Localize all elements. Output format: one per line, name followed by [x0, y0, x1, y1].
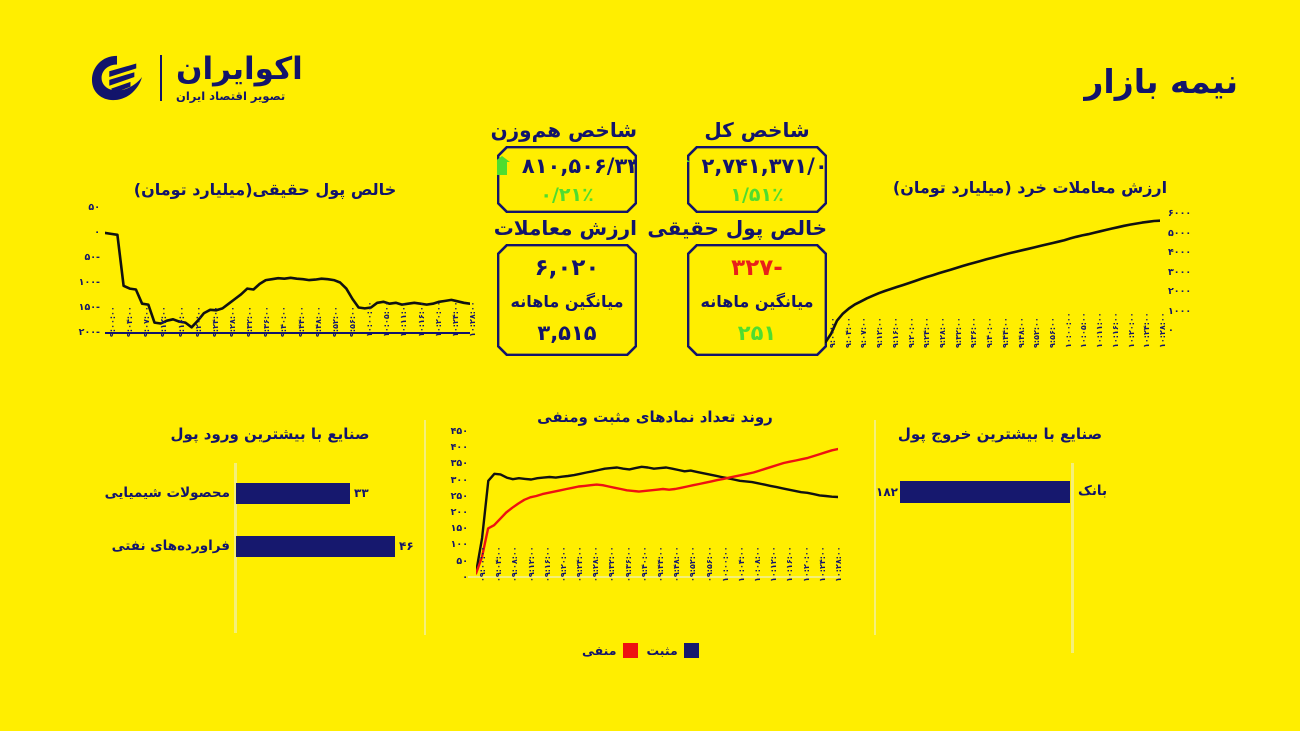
legend-swatch-negative: [623, 643, 638, 658]
bar-chemicals[interactable]: [236, 483, 350, 504]
x-tick-label: ۹:۲۴:۰۰: [922, 317, 931, 348]
y-tick-label: ۱۰۰۰: [1168, 306, 1208, 317]
money-inflow-industries-chart: صنایع با بیشترین ورود پول محصولات شیمیای…: [120, 425, 420, 635]
brand-tagline: تصویر اقتصاد ایران: [176, 89, 285, 103]
money-outflow-industries-chart: صنایع با بیشترین خروج پول بانک ۱۸۲: [875, 425, 1125, 635]
x-tick-label: ۱۰:۱۱:۰۰: [1095, 312, 1104, 348]
y-tick-label: ۳۰۰: [428, 475, 468, 486]
y-tick-label: ۰: [428, 572, 468, 583]
x-tick-label: ۰۹:۴۴:۰۰: [656, 546, 665, 582]
x-tick-label: ۰۹:۰۰:۰۰: [478, 546, 487, 582]
y-tick-label: ۰: [60, 227, 100, 238]
x-tick-label: ۱۰:۰۴:۰۰: [737, 546, 746, 582]
kpi-total-index: شاخص کل ۲,۷۴۱,۳۷۱/۰۶ ۱/۵۱٪: [687, 118, 827, 213]
x-tick-label: ۱۰:۲۴:۰۰: [1142, 312, 1151, 348]
x-tick-label: ۱۰:۲۴:۰۰: [818, 546, 827, 582]
y-tick-label: ۳۰۰۰: [1168, 267, 1208, 278]
section-divider-left: [424, 420, 426, 635]
x-tick-label: ۰۹:۲۴:۰۰: [575, 546, 584, 582]
kpi-value-row: ۲,۷۴۱,۳۷۱/۰۶: [674, 154, 841, 178]
legend-item-negative: منفی: [582, 643, 638, 658]
legend-label-negative: منفی: [582, 643, 617, 658]
y-tick-label: ۶۰۰۰: [1168, 208, 1208, 219]
x-tick-label: ۱۰:۲۸:۰۰: [1158, 312, 1167, 348]
chart-title: صنایع با بیشترین ورود پول: [120, 425, 420, 443]
x-tick-label: ۱۰:۰۰:۰۰: [365, 301, 374, 337]
bar-bank[interactable]: [900, 481, 1070, 503]
x-tick-label: ۹:۳۶:۰۰: [969, 317, 978, 348]
y-tick-label: ۱۵۰: [428, 523, 468, 534]
page-title: نیمه بازار: [1084, 62, 1238, 101]
x-tick-label: ۰۹:۳۲:۰۰: [607, 546, 616, 582]
legend-item-positive: مثبت: [647, 643, 699, 658]
x-tick-label: ۹:۴۸:۰۰: [314, 306, 323, 337]
x-tick-label: ۹:۰۰:۰۰: [108, 306, 117, 337]
x-tick-label: ۹:۱۶:۰۰: [891, 317, 900, 348]
x-tick-label: ۹:۲۴:۰۰: [211, 306, 220, 337]
section-divider-right: [874, 420, 876, 635]
retail-trade-value-chart: ارزش معاملات خرد (میلیارد تومان) ۶۰۰۰۵۰۰…: [820, 178, 1240, 378]
arrow-up-green-icon: [494, 156, 512, 176]
kpi-value-row: ۸۱۰,۵۰۶/۳۳: [494, 154, 640, 178]
x-tick-label: ۹:۳۲:۰۰: [245, 306, 254, 337]
y-tick-label: ۴۰۰: [428, 442, 468, 453]
brand-logo-text: اکوایران تصویر اقتصاد ایران: [176, 53, 303, 104]
x-tick-label: ۹:۵۶:۰۰: [1048, 317, 1057, 348]
x-tick-label: ۹:۰۴:۰۰: [125, 306, 134, 337]
x-tick-label: ۱۰:۱۱:۰۰: [399, 301, 408, 337]
bar-category-label: بانک: [1078, 483, 1107, 499]
x-tick-label: ۰۹:۴۸:۰۰: [672, 546, 681, 582]
y-tick-label: -۵۰: [60, 252, 100, 263]
chart-title: ارزش معاملات خرد (میلیارد تومان): [820, 178, 1240, 197]
bar-axis-line: [1071, 463, 1074, 653]
x-tick-label: ۱۰:۰۸:۰۰: [753, 546, 762, 582]
x-tick-label: ۱۰:۱۶:۰۰: [1111, 312, 1120, 348]
x-tick-label: ۹:۱۲:۰۰: [875, 317, 884, 348]
x-tick-label: ۰۹:۵۲:۰۰: [688, 546, 697, 582]
x-tick-label: ۹:۴۸:۰۰: [1017, 317, 1026, 348]
kpi-card: -۳۲۷ میانگین ماهانه ۲۵۱: [687, 244, 827, 356]
x-tick-label: ۹:۰۷:۰۰: [142, 306, 151, 337]
bar-petroleum[interactable]: [236, 536, 395, 557]
chart-title: صنایع با بیشترین خروج پول: [875, 425, 1125, 443]
arrow-up-green-icon: [674, 156, 692, 176]
bar-value-label: ۱۸۲: [876, 485, 898, 499]
eco-iran-swoosh-logo-icon: [88, 52, 146, 104]
kpi-sub-value: ۳,۵۱۵: [537, 321, 596, 345]
kpi-hamvazn-index: شاخص هم‌وزن ۸۱۰,۵۰۶/۳۳ ۰/۲۱٪: [497, 118, 637, 213]
x-tick-label: ۰۹:۵۶:۰۰: [705, 546, 714, 582]
x-tick-label: ۱۰:۰۰:۰۰: [1064, 312, 1073, 348]
kpi-change: ۱/۵۱٪: [730, 184, 783, 206]
x-tick-label: ۰۹:۱۲:۰۰: [527, 546, 536, 582]
bar-category-label: محصولات شیمیایی: [105, 485, 230, 501]
x-tick-label: ۱۰:۱۶:۰۰: [417, 301, 426, 337]
x-tick-label: ۹:۰۷:۰۰: [859, 317, 868, 348]
x-tick-label: ۱۰:۲۰:۰۰: [434, 301, 443, 337]
x-tick-label: ۹:۳۲:۰۰: [954, 317, 963, 348]
x-tick-label: ۰۹:۴۰:۰۰: [640, 546, 649, 582]
kpi-sub-label: میانگین ماهانه: [511, 292, 624, 311]
x-tick-label: ۱۰:۲۰:۰۰: [1127, 312, 1136, 348]
bar-value-label: ۳۳: [354, 486, 369, 500]
kpi-trade-value: ارزش معاملات ۶,۰۲۰ میانگین ماهانه ۳,۵۱۵: [497, 216, 637, 356]
y-tick-label: ۲۵۰: [428, 491, 468, 502]
chart-legend: مثبت منفی: [582, 643, 699, 658]
y-tick-label: ۴۰۰۰: [1168, 247, 1208, 258]
x-tick-label: ۰۹:۲۸:۰۰: [591, 546, 600, 582]
kpi-card: ۸۱۰,۵۰۶/۳۳ ۰/۲۱٪: [497, 146, 637, 213]
y-tick-label: -۱۰۰: [60, 277, 100, 288]
kpi-sub-label: میانگین ماهانه: [701, 292, 814, 311]
x-tick-label: ۹:۲۰:۰۰: [194, 306, 203, 337]
dashboard-root: اکوایران تصویر اقتصاد ایران نیمه بازار ش…: [0, 0, 1300, 731]
x-tick-label: ۹:۴۰:۰۰: [985, 317, 994, 348]
x-tick-label: ۱۰:۰۵:۰۰: [382, 301, 391, 337]
x-tick-label: ۱۰:۱۶:۰۰: [785, 546, 794, 582]
x-tick-label: ۹:۴۴:۰۰: [1001, 317, 1010, 348]
brand-logo: اکوایران تصویر اقتصاد ایران: [88, 52, 303, 104]
chart-title: خالص پول حقیقی(میلیارد تومان): [60, 180, 470, 199]
kpi-label: ارزش معاملات: [497, 216, 637, 240]
x-tick-label: ۱۰:۲۸:۰۰: [834, 546, 843, 582]
y-tick-label: ۲۰۰: [428, 507, 468, 518]
bar-value-label: ۴۶: [399, 539, 414, 553]
y-tick-label: ۱۰۰: [428, 539, 468, 550]
kpi-value: -۳۲۷: [731, 255, 783, 281]
x-tick-label: ۹:۲۰:۰۰: [907, 317, 916, 348]
x-tick-label: ۹:۱۲:۰۰: [159, 306, 168, 337]
x-tick-label: ۱۰:۰۵:۰۰: [1079, 312, 1088, 348]
kpi-sub-value: ۲۵۱: [738, 321, 776, 345]
logo-divider: [160, 55, 162, 101]
kpi-change: ۰/۲۱٪: [540, 184, 593, 206]
x-tick-label: ۱۰:۱۲:۰۰: [769, 546, 778, 582]
x-tick-label: ۹:۲۸:۰۰: [938, 317, 947, 348]
x-tick-label: ۰۹:۰۸:۰۰: [510, 546, 519, 582]
kpi-card: ۲,۷۴۱,۳۷۱/۰۶ ۱/۵۱٪: [687, 146, 827, 213]
y-tick-label: ۳۵۰: [428, 458, 468, 469]
y-tick-label: ۲۰۰۰: [1168, 286, 1208, 297]
x-tick-label: ۹:۳۶:۰۰: [262, 306, 271, 337]
bar-category-label: فراورده‌های نفتی: [112, 538, 230, 554]
y-tick-label: -۲۰۰: [60, 327, 100, 338]
x-tick-label: ۱۰:۰۰:۰۰: [721, 546, 730, 582]
y-tick-label: ۰: [1168, 325, 1208, 336]
x-tick-label: ۱۰:۲۴:۰۰: [451, 301, 460, 337]
x-tick-label: ۹:۵۲:۰۰: [1032, 317, 1041, 348]
kpi-value: ۲,۷۴۱,۳۷۱/۰۶: [702, 154, 841, 178]
y-tick-label: -۱۵۰: [60, 302, 100, 313]
y-tick-label: ۵۰: [428, 556, 468, 567]
x-tick-label: ۰۹:۰۴:۰۰: [494, 546, 503, 582]
x-tick-label: ۰۹:۱۶:۰۰: [543, 546, 552, 582]
x-tick-label: ۹:۵۲:۰۰: [331, 306, 340, 337]
x-tick-label: ۹:۴۴:۰۰: [297, 306, 306, 337]
kpi-card: ۶,۰۲۰ میانگین ماهانه ۳,۵۱۵: [497, 244, 637, 356]
net-real-money-chart: خالص پول حقیقی(میلیارد تومان) ۵۰۰-۵۰-۱۰۰…: [60, 180, 470, 380]
x-tick-label: ۹:۵۶:۰۰: [348, 306, 357, 337]
x-tick-label: ۹:۰۴:۰۰: [844, 317, 853, 348]
x-tick-label: ۹:۰۰:۰۰: [828, 317, 837, 348]
positive-negative-symbols-chart: روند تعداد نمادهای مثبت ومنفی ۴۵۰۴۰۰۳۵۰۳…: [430, 408, 880, 638]
y-tick-label: ۵۰: [60, 202, 100, 213]
x-tick-label: ۰۹:۲۰:۰۰: [559, 546, 568, 582]
kpi-label: خالص پول حقیقی: [687, 216, 827, 240]
legend-swatch-positive: [684, 643, 699, 658]
kpi-label: شاخص هم‌وزن: [497, 118, 637, 142]
x-tick-label: ۰۹:۳۶:۰۰: [624, 546, 633, 582]
brand-name: اکوایران: [176, 53, 303, 86]
x-tick-label: ۹:۱۶:۰۰: [177, 306, 186, 337]
y-tick-label: ۴۵۰: [428, 426, 468, 437]
y-tick-label: ۵۰۰۰: [1168, 228, 1208, 239]
kpi-value: ۶,۰۲۰: [535, 255, 600, 281]
x-tick-label: ۱۰:۲۰:۰۰: [802, 546, 811, 582]
x-tick-label: ۹:۴۰:۰۰: [279, 306, 288, 337]
kpi-net-real-money: خالص پول حقیقی -۳۲۷ میانگین ماهانه ۲۵۱: [687, 216, 827, 356]
x-tick-label: ۹:۲۸:۰۰: [228, 306, 237, 337]
kpi-value: ۸۱۰,۵۰۶/۳۳: [522, 154, 640, 178]
x-tick-label: ۱۰:۲۸:۰۰: [468, 301, 477, 337]
kpi-label: شاخص کل: [687, 118, 827, 142]
legend-label-positive: مثبت: [647, 643, 678, 658]
chart-title: روند تعداد نمادهای مثبت ومنفی: [430, 408, 880, 426]
